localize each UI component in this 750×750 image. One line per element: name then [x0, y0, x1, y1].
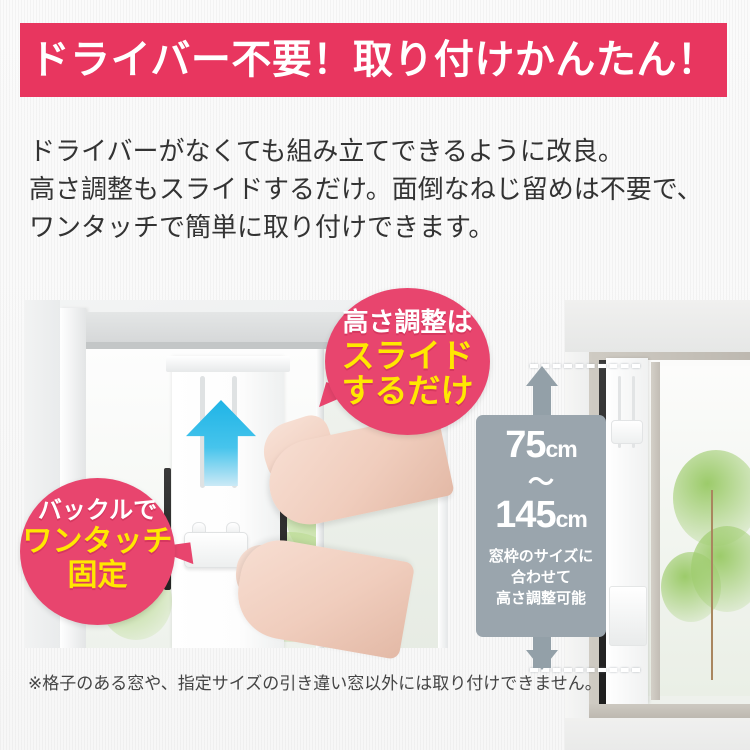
header-banner: ドライバー不要！取り付けかんたん！ [20, 23, 727, 97]
lower-wall [565, 718, 750, 750]
lead-line-1: ドライバーがなくても組み立てできるように改良。 [29, 132, 729, 170]
callout-bubble-slide: 高さ調整は スライド するだけ [325, 288, 490, 435]
size-max-row: 145cm [476, 493, 606, 541]
footnote-text: ※格子のある窓や、指定サイズの引き違い窓以外には取り付けできません。 [28, 672, 602, 696]
product-base-flap [609, 586, 647, 646]
callout-bubble-buckle: バックルで ワンタッチ 固定 [20, 478, 175, 625]
bubble-buckle-line-1: バックルで [20, 499, 175, 523]
window-mullion-right-photo [651, 362, 660, 700]
banner-title: ドライバー不要！取り付けかんたん！ [30, 40, 718, 80]
pet-door-product-installed [606, 358, 648, 704]
product-feature-page: ドライバー不要！取り付けかんたん！ ドライバーがなくても組み立てできるように改良… [0, 0, 750, 750]
product-top-bracket [166, 356, 290, 372]
size-range-panel: 75cm 〜 145cm 窓枠のサイズに 合わせて 高さ調整可能 [476, 415, 606, 637]
lead-paragraph: ドライバーがなくても組み立てできるように改良。 高さ調整もスライドするだけ。面倒… [29, 132, 729, 246]
bubble-slide-line-3: するだけ [325, 374, 490, 408]
measure-arrow-shaft-up [533, 382, 551, 418]
bubble-buckle-line-2: ワンタッチ [20, 527, 175, 558]
size-note: 窓枠のサイズに 合わせて 高さ調整可能 [476, 546, 606, 609]
size-min-unit: cm [546, 436, 577, 462]
size-note-line-2: 合わせて [476, 567, 606, 588]
ceiling-area [565, 300, 750, 352]
plant-stem [711, 490, 713, 680]
size-note-line-1: 窓枠のサイズに [476, 546, 606, 567]
size-max-value: 145 [495, 494, 555, 536]
lead-line-2: 高さ調整もスライドするだけ。面倒なねじ留めは不要で、 [29, 170, 729, 208]
bubble-slide-line-1: 高さ調整は [325, 309, 490, 336]
buckle-latch-installed [611, 420, 643, 444]
size-min-row: 75cm [476, 423, 606, 471]
bubble-buckle-line-3: 固定 [20, 561, 175, 592]
size-range-tilde: 〜 [476, 471, 606, 493]
size-min-value: 75 [505, 424, 545, 466]
lead-line-3: ワンタッチで簡単に取り付けできます。 [29, 208, 729, 246]
size-max-unit: cm [556, 506, 587, 532]
bubble-slide-line-2: スライド [325, 339, 490, 373]
size-note-line-3: 高さ調整可能 [476, 588, 606, 609]
measure-arrow-head-down-icon [526, 650, 558, 670]
dashed-guide-top-icon [530, 364, 640, 368]
